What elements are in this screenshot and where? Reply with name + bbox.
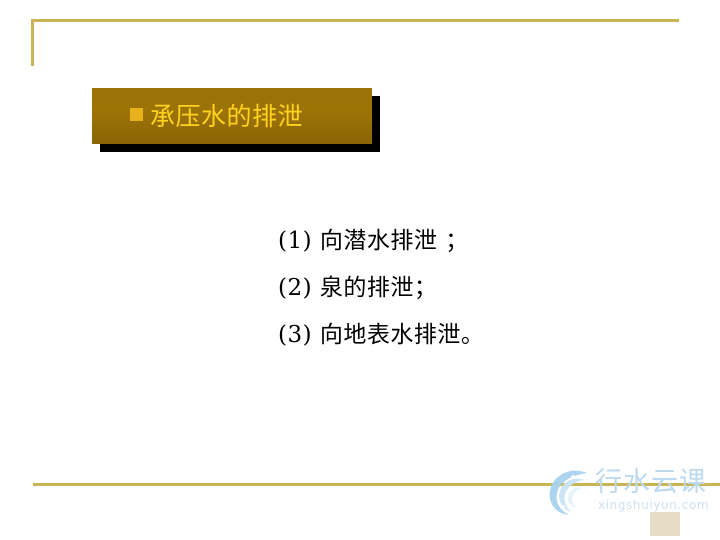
list-item: (3) 向地表水排泄。	[278, 312, 678, 359]
list-item: (2) 泉的排泄；	[278, 265, 678, 312]
title-plate: 承压水的排泄	[92, 88, 372, 144]
page-title: 承压水的排泄	[150, 104, 303, 129]
slide-canvas: 承压水的排泄 (1) 向潜水排泄 ； (2) 泉的排泄； (3) 向地表水排泄。…	[0, 0, 720, 540]
watermark-url-text: xingshuiyun.com	[598, 498, 709, 512]
watermark-swatch	[650, 512, 680, 536]
title-plate-group: 承压水的排泄	[92, 88, 380, 152]
bottom-rule	[33, 483, 720, 486]
body-list: (1) 向潜水排泄 ； (2) 泉的排泄； (3) 向地表水排泄。	[278, 218, 678, 359]
list-item: (1) 向潜水排泄 ；	[278, 218, 678, 265]
left-rule	[31, 19, 34, 66]
watermark: 行水云课 xingshuiyun.com	[543, 462, 720, 522]
wave-swirl-icon	[543, 464, 597, 518]
top-rule	[31, 19, 679, 22]
bullet-square-icon	[130, 108, 143, 121]
